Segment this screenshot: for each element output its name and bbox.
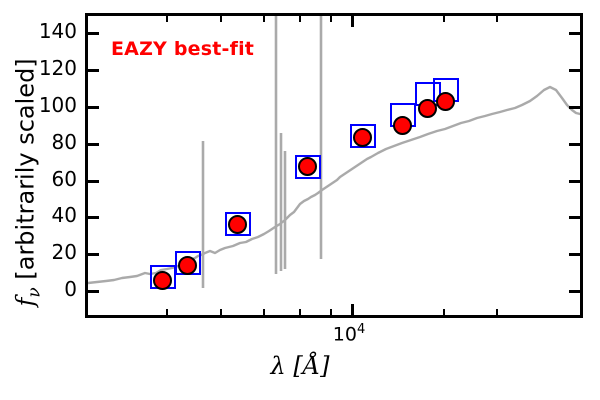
y-axis-title: fν [arbitrarily scaled]: [12, 32, 45, 332]
x-minor-tick-mirror: [220, 16, 222, 22]
y-tick-mirror: [569, 290, 580, 293]
y-tick-mirror: [569, 32, 580, 35]
x-minor-tick: [166, 309, 168, 315]
y-axis-title-f: f: [12, 298, 40, 307]
x-minor-tick: [496, 309, 498, 315]
y-tick-40: [88, 216, 99, 219]
x-major-tick-1e4: [351, 304, 354, 315]
x-minor-tick: [330, 309, 332, 315]
x-tick-label-1e4: 104: [333, 322, 365, 345]
y-tick-mirror: [569, 180, 580, 183]
x-minor-tick-mirror: [299, 16, 301, 22]
observed-photometry-marker: [418, 99, 437, 118]
x-minor-tick: [299, 309, 301, 315]
x-minor-tick-mirror: [330, 16, 332, 22]
x-tick-mantissa: 10: [333, 323, 357, 345]
observed-photometry-marker: [393, 116, 412, 135]
plot-clip-region: EAZY best-fit: [88, 16, 580, 315]
y-axis-title-nu: ν: [24, 287, 44, 297]
y-tick-80: [88, 143, 99, 146]
annotation-eazy-best-fit: EAZY best-fit: [111, 38, 254, 60]
y-tick-60: [88, 180, 99, 183]
x-minor-tick-mirror: [496, 16, 498, 22]
x-minor-tick: [263, 309, 265, 315]
figure-canvas: EAZY best-fit: [0, 0, 600, 400]
x-major-tick-mirror: [351, 16, 354, 27]
y-tick-mirror: [569, 69, 580, 72]
y-tick-mirror: [569, 216, 580, 219]
observed-photometry-marker: [298, 157, 317, 176]
x-minor-tick: [220, 309, 222, 315]
x-minor-tick-mirror: [443, 16, 445, 22]
spectrum-continuum: [88, 87, 580, 283]
y-tick-100: [88, 106, 99, 109]
x-minor-tick-mirror: [166, 16, 168, 22]
x-minor-tick-mirror: [263, 16, 265, 22]
x-tick-exponent: 4: [357, 322, 365, 337]
observed-photometry-marker: [228, 215, 247, 234]
observed-photometry-marker: [436, 92, 455, 111]
observed-photometry-marker: [353, 128, 372, 147]
y-tick-mirror: [569, 143, 580, 146]
y-tick-mirror: [569, 106, 580, 109]
plot-area: EAZY best-fit: [85, 13, 583, 318]
x-axis-title: λ [Å]: [0, 352, 600, 380]
y-tick-mirror: [569, 253, 580, 256]
y-tick-20: [88, 253, 99, 256]
y-tick-120: [88, 69, 99, 72]
x-minor-tick: [443, 309, 445, 315]
y-tick-0: [88, 290, 99, 293]
y-tick-140: [88, 32, 99, 35]
y-axis-title-rest: [arbitrarily scaled]: [12, 58, 40, 287]
observed-photometry-marker: [153, 271, 172, 290]
observed-photometry-marker: [178, 256, 197, 275]
